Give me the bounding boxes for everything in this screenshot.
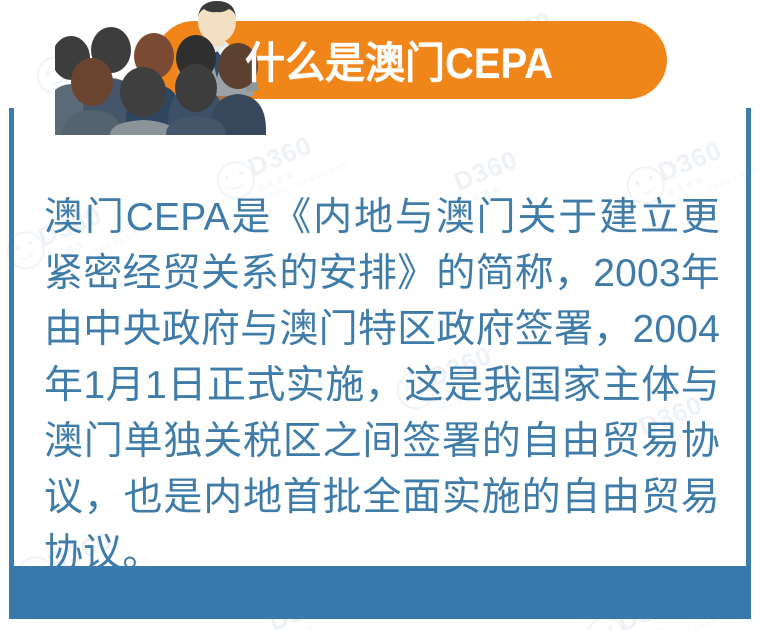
audience-front-row [62, 58, 226, 135]
watermark-sub: 蓝天图库 [256, 149, 347, 194]
infographic-card: D360 蓝天图库 图库/图片，让中国蓝天图库网 D360 蓝天图库 图库/图片… [0, 0, 764, 630]
frame-line-left [9, 108, 14, 566]
page-title: 什么是澳门CEPA [245, 36, 571, 92]
watermark-main: D360 [654, 124, 752, 188]
body-paragraph: 澳门CEPA是《内地与澳门关于建立更紧密经贸关系的安排》的简称，2003年由中央… [44, 190, 720, 582]
frame-line-right [746, 108, 751, 566]
